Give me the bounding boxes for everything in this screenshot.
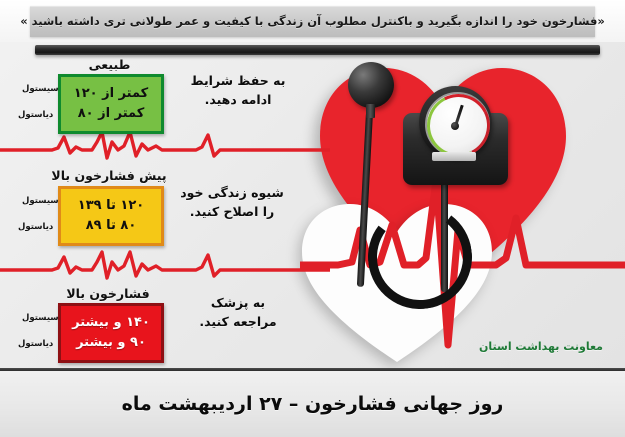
category-title-hypertension: فشارخون بالا	[58, 286, 158, 301]
prehypertension-systolic-value: ۱۲۰ تا ۱۳۹	[78, 196, 144, 216]
normal-diastolic-value: کمتر از ۸۰	[78, 104, 145, 124]
category-title-normal: طبیعی	[62, 57, 157, 72]
prehypertension-diastolic-value: ۸۰ تا ۸۹	[86, 216, 137, 236]
hypertension-systolic-label: سیستول	[22, 313, 59, 323]
header-slogan: «فشارخون خود را اندازه بگیرید و باکنترل …	[30, 6, 595, 36]
normal-diastolic-label: دیاستول	[18, 110, 53, 120]
cuff-clip	[432, 152, 476, 161]
advice-normal: به حفظ شرایط ادامه دهید.	[178, 72, 298, 110]
ecg-divider-1	[0, 128, 330, 164]
prehypertension-diastolic-label: دیاستول	[18, 222, 53, 232]
hypertension-diastolic-value: ۹۰ و بیشتر	[76, 333, 146, 353]
normal-systolic-label: سیستول	[22, 84, 59, 94]
inflation-bulb-icon	[348, 62, 394, 108]
category-title-prehypertension: پیش فشارخون بالا	[45, 168, 173, 183]
hypertension-diastolic-label: دیاستول	[18, 339, 53, 349]
gauge-hub	[451, 122, 459, 130]
normal-systolic-value: کمتر از ۱۲۰	[74, 84, 148, 104]
advice-hypertension: به پزشک مراجعه کنید.	[178, 294, 298, 332]
divider-rail	[35, 45, 600, 55]
advice-prehypertension: شیوه زندگی خود را اصلاح کنید.	[172, 184, 292, 222]
footer-title: روز جهانی فشارخون – ۲۷ اردیبهشت ماه	[122, 393, 504, 415]
value-box-prehypertension[interactable]: ۱۲۰ تا ۱۳۹ ۸۰ تا ۸۹	[58, 186, 164, 246]
hypertension-systolic-value: ۱۴۰ و بیشتر	[72, 313, 150, 333]
value-box-hypertension[interactable]: ۱۴۰ و بیشتر ۹۰ و بیشتر	[58, 303, 164, 363]
organization-signature: معاونت بهداشت استان	[479, 340, 603, 353]
ecg-divider-2	[0, 248, 330, 284]
prehypertension-systolic-label: سیستول	[22, 196, 59, 206]
bulb-neck	[366, 104, 375, 118]
value-box-normal[interactable]: کمتر از ۱۲۰ کمتر از ۸۰	[58, 74, 164, 134]
footer-band: روز جهانی فشارخون – ۲۷ اردیبهشت ماه	[0, 371, 625, 437]
infographic-poster: «فشارخون خود را اندازه بگیرید و باکنترل …	[0, 0, 625, 437]
